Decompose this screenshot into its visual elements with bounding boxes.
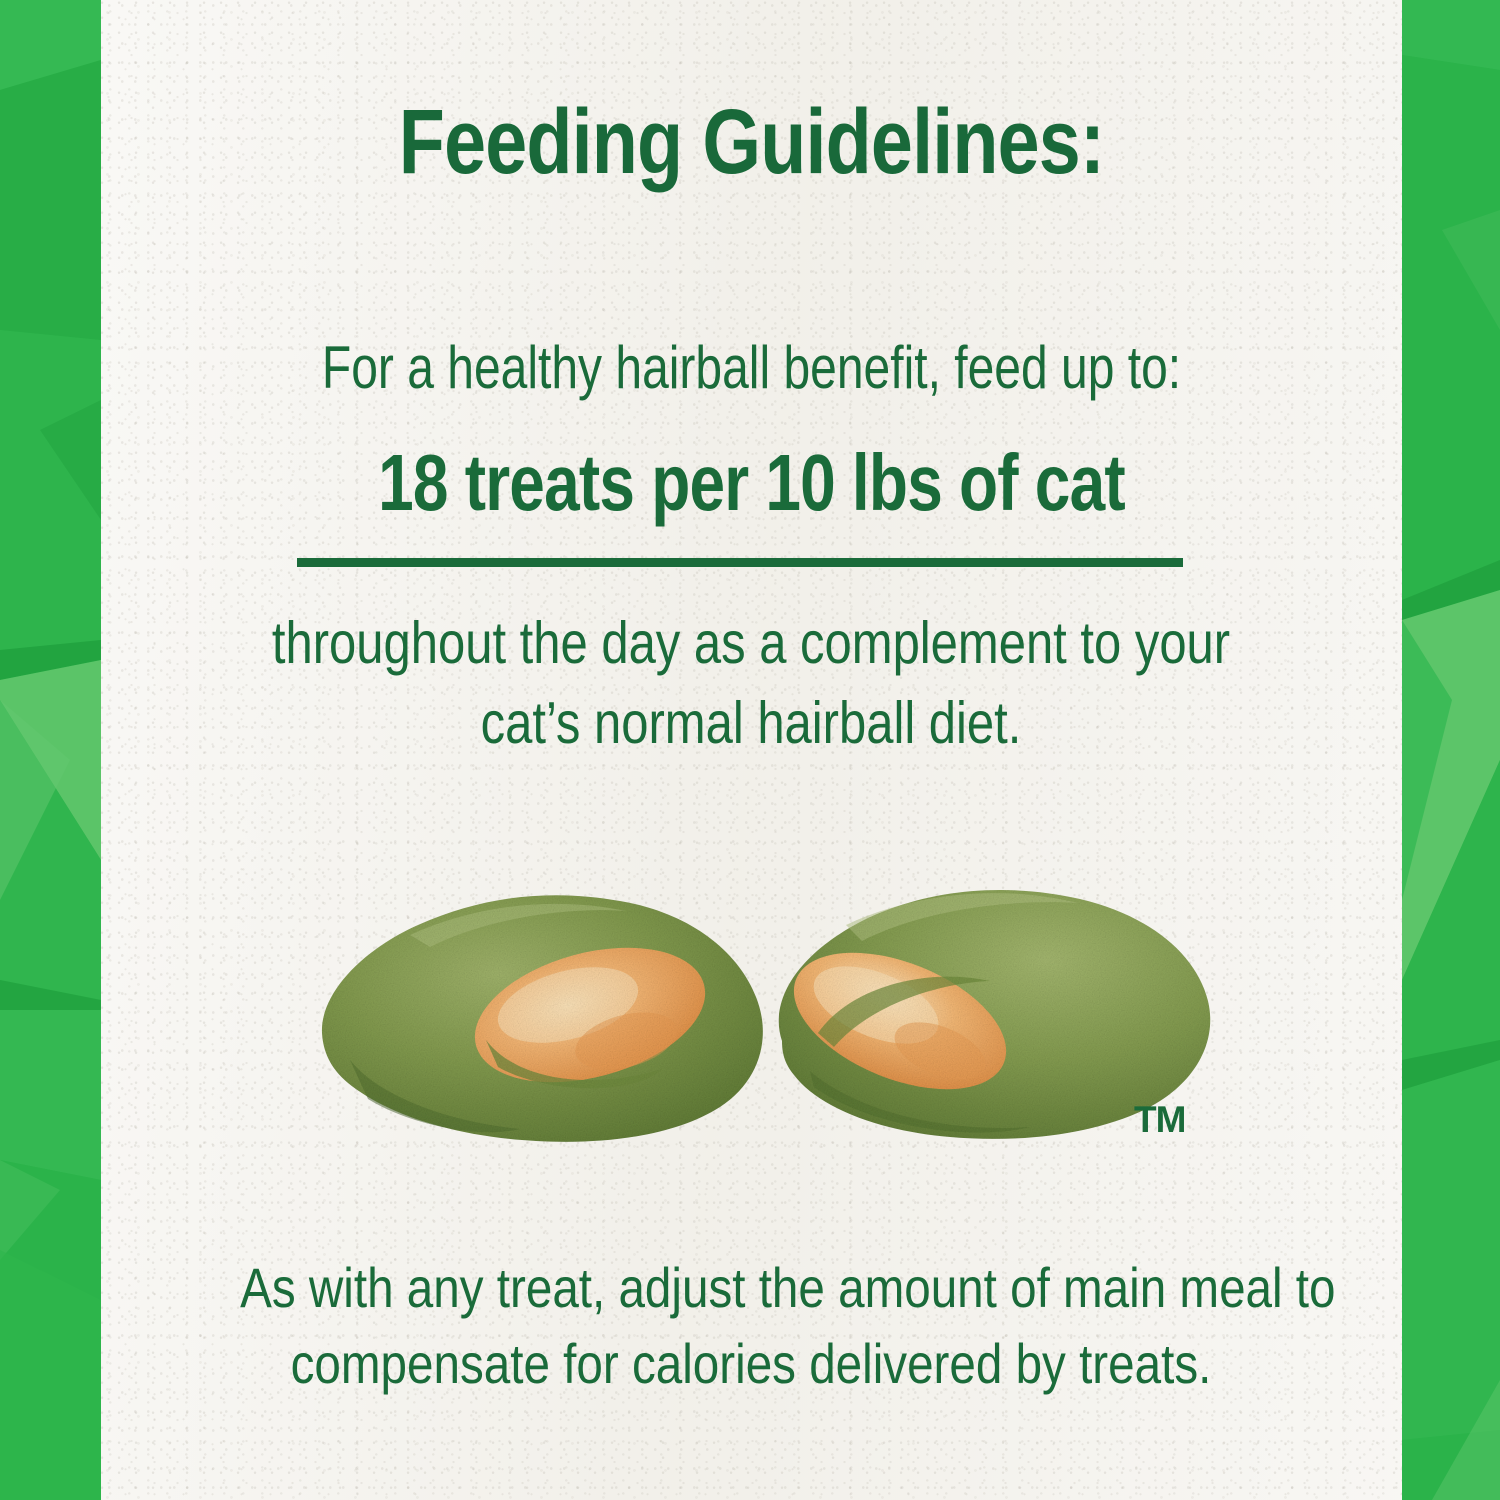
feeding-continuation-text: throughout the day as a complement to yo… xyxy=(252,604,1250,763)
treat-product-photo xyxy=(290,855,1240,1145)
right-band-pattern-icon xyxy=(1402,0,1500,1500)
trademark-symbol: TM xyxy=(1134,1101,1185,1138)
footnote-line-2: compensate for calories delivered by tre… xyxy=(240,1326,1262,1402)
footnote-line-1: As with any treat, adjust the amount of … xyxy=(240,1250,1262,1326)
feeding-guidelines-panel: Feeding Guidelines: For a healthy hairba… xyxy=(0,0,1500,1500)
continuation-line-2: cat’s normal hairball diet. xyxy=(252,684,1250,764)
page-title: Feeding Guidelines: xyxy=(218,96,1285,190)
continuation-line-1: throughout the day as a complement to yo… xyxy=(252,604,1250,684)
feeding-intro-text: For a healthy hairball benefit, feed up … xyxy=(231,336,1272,399)
cat-treats-icon xyxy=(290,855,1240,1145)
dose-underline-rule xyxy=(297,558,1183,567)
left-band-pattern-icon xyxy=(0,0,101,1500)
footnote-text: As with any treat, adjust the amount of … xyxy=(240,1250,1262,1402)
right-green-band xyxy=(1402,0,1500,1500)
left-green-band xyxy=(0,0,101,1500)
feeding-dose-text: 18 treats per 10 lbs of cat xyxy=(231,442,1272,524)
